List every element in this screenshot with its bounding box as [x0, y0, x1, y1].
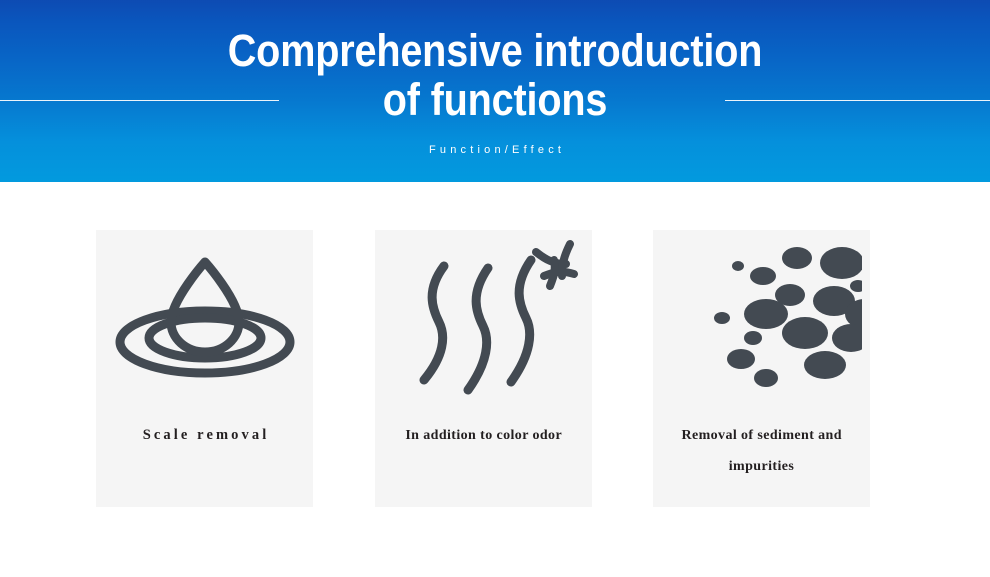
- feature-card-color-odor[interactable]: In addition to color odor: [375, 230, 592, 507]
- feature-card-label: Scale removal: [104, 420, 305, 451]
- feature-card-scale-removal[interactable]: Scale removal: [96, 230, 313, 507]
- odor-smoke-waves-icon: [375, 230, 592, 410]
- page-title: Comprehensive introduction of functions: [59, 26, 930, 124]
- feature-card-list: Scale removal: [0, 182, 990, 577]
- header-banner: Comprehensive introduction of functions …: [0, 0, 990, 182]
- water-droplet-ripple-icon: [96, 230, 313, 410]
- feature-card-sediment-impurities[interactable]: Removal of sediment and impurities: [653, 230, 870, 507]
- page-subtitle: Function/Effect: [0, 144, 990, 156]
- sediment-particles-icon: [653, 230, 870, 410]
- feature-card-label: Removal of sediment and impurities: [661, 420, 862, 482]
- feature-card-label: In addition to color odor: [383, 420, 584, 451]
